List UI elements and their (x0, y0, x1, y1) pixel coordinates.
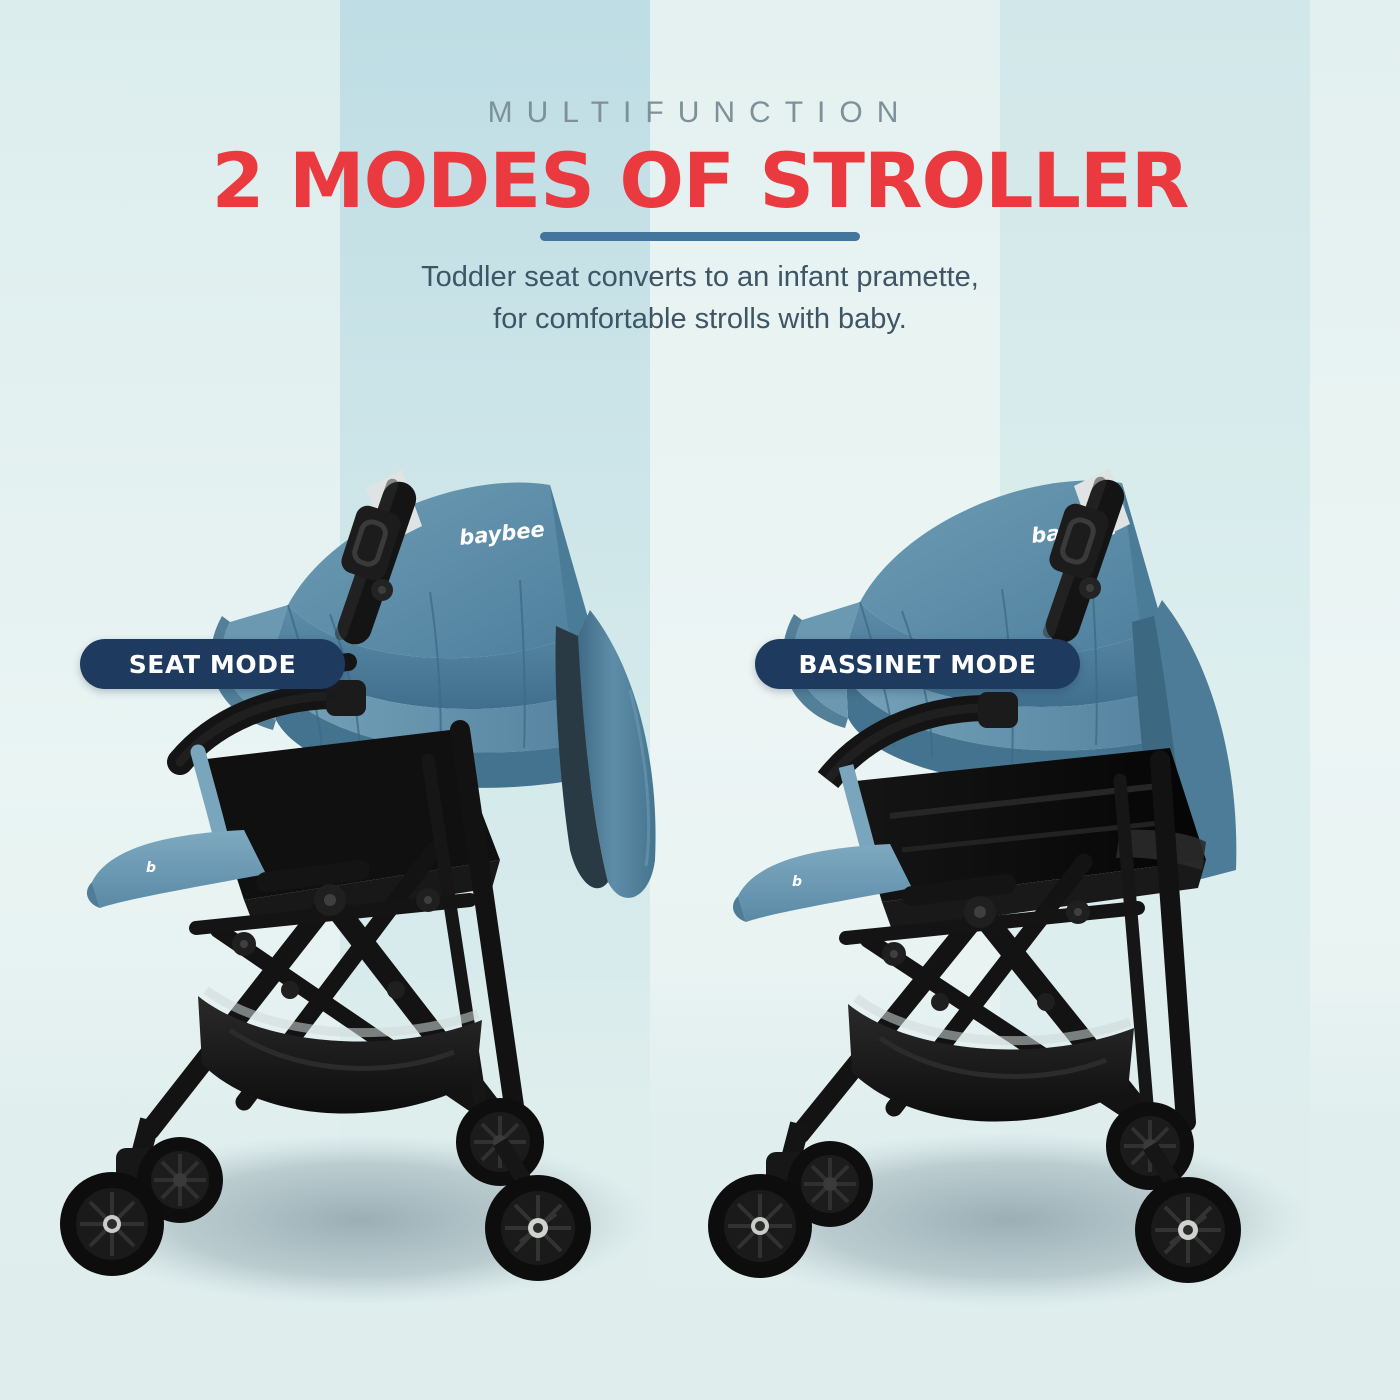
page-title: 2 MODES OF STROLLER (0, 136, 1400, 225)
seat-fabric-drape (556, 610, 656, 898)
badge-bassinet-mode[interactable]: BASSINET MODE (755, 639, 1080, 689)
subtitle: Toddler seat converts to an infant prame… (0, 256, 1400, 340)
svg-text:b: b (792, 874, 802, 890)
title-divider (540, 232, 860, 241)
wheel-front-large (60, 1172, 164, 1276)
svg-text:b: b (146, 860, 156, 876)
wheel-front-large (708, 1174, 812, 1278)
badge-seat-mode[interactable]: SEAT MODE (80, 639, 345, 689)
wheel-rear-large (1135, 1177, 1241, 1283)
subtitle-line-2: for comfortable strolls with baby. (0, 298, 1400, 340)
subtitle-line-1: Toddler seat converts to an infant prame… (0, 256, 1400, 298)
stroller-bassinet-mode-image: baybee (650, 430, 1350, 1330)
marketing-banner: MULTIFUNCTION 2 MODES OF STROLLER Toddle… (0, 0, 1400, 1400)
kicker-text: MULTIFUNCTION (0, 96, 1400, 130)
footrest-pad: b (87, 830, 266, 908)
stroller-seat-mode-image: baybee (30, 430, 690, 1330)
wheel-rear-large (485, 1175, 591, 1281)
